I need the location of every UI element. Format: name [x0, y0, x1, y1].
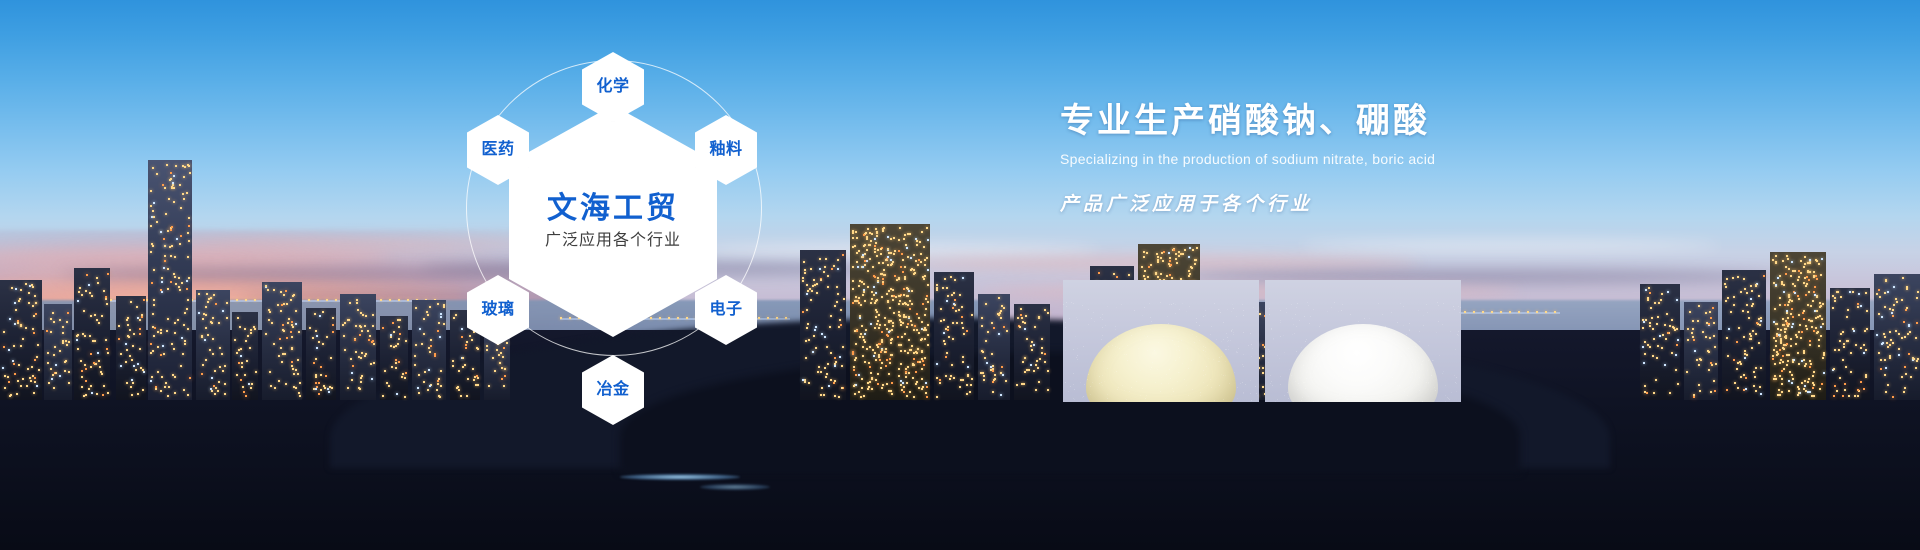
product-photo-boric-acid[interactable]	[1265, 280, 1461, 402]
company-tagline: 广泛应用各个行业	[545, 233, 681, 249]
hex-node-label: 化学	[596, 79, 629, 95]
banner-copy: 专业生产硝酸钠、硼酸 Specializing in the productio…	[1060, 102, 1700, 216]
hex-node-label: 医药	[481, 142, 514, 158]
subheadline: Specializing in the production of sodium…	[1060, 151, 1700, 167]
powder-grain-texture	[1063, 280, 1259, 402]
headline: 专业生产硝酸钠、硼酸	[1060, 102, 1700, 141]
city-skyline-background	[0, 0, 1920, 550]
hex-node-label: 冶金	[596, 382, 629, 398]
hex-node-metallurgy[interactable]: 冶金	[582, 355, 644, 425]
product-photo-sodium-nitrate[interactable]	[1063, 280, 1259, 402]
company-name: 文海工贸	[547, 194, 679, 224]
hex-node-label: 釉料	[709, 142, 742, 158]
hex-node-label: 玻璃	[481, 302, 514, 318]
hero-banner: 文海工贸 广泛应用各个行业 化学 釉料 电子 冶金 玻璃 医药 专业生产硝酸钠、…	[0, 0, 1920, 550]
hex-node-label: 电子	[709, 302, 742, 318]
powder-grain-texture	[1265, 280, 1461, 402]
product-photo-gallery	[1063, 280, 1461, 402]
tagline: 产品广泛应用于各个行业	[1060, 189, 1700, 216]
industry-hex-diagram: 文海工贸 广泛应用各个行业 化学 釉料 电子 冶金 玻璃 医药	[430, 30, 800, 430]
skyline-buildings	[0, 270, 1920, 400]
